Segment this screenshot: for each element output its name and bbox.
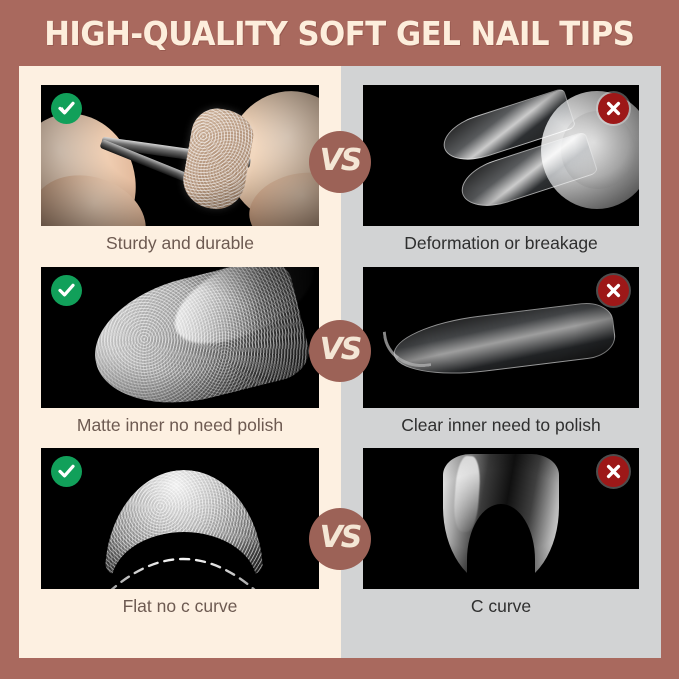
pro-photo-3 (41, 448, 319, 589)
pro-caption-2: Matte inner no need polish (77, 417, 283, 435)
vs-badge-1: VS (309, 131, 371, 193)
pro-cell-3: Flat no c curve (19, 434, 341, 616)
check-badge (51, 93, 82, 124)
pro-cell-2: Matte inner no need polish (19, 253, 341, 435)
vs-badge-3: VS (309, 508, 371, 570)
poster-title-bar: HIGH-QUALITY SOFT GEL NAIL TIPS (0, 0, 679, 66)
con-cell-3: C curve (341, 434, 661, 616)
con-caption-3: C curve (471, 598, 531, 616)
dashed-arc-guide (103, 518, 263, 589)
check-badge (51, 275, 82, 306)
con-photo-3 (363, 448, 639, 589)
con-column: Deformation or breakage Clea (341, 66, 661, 658)
close-icon (605, 463, 622, 480)
vs-badge-label: VS (320, 146, 361, 176)
pro-caption-3: Flat no c curve (123, 598, 238, 616)
con-cell-1: Deformation or breakage (341, 66, 661, 253)
check-badge (51, 456, 82, 487)
cross-badge (598, 93, 629, 124)
vs-badge-2: VS (309, 320, 371, 382)
check-icon (57, 99, 76, 118)
vs-badge-label: VS (320, 335, 361, 365)
con-photo-1 (363, 85, 639, 226)
pro-photo-2 (41, 267, 319, 408)
pro-photo-1-art (41, 85, 319, 226)
con-cell-2: Clear inner need to polish (341, 253, 661, 435)
check-icon (57, 462, 76, 481)
page-title: HIGH-QUALITY SOFT GEL NAIL TIPS (44, 14, 634, 53)
check-icon (57, 281, 76, 300)
pro-column: Sturdy and durable Matte inn (19, 66, 341, 658)
con-caption-2: Clear inner need to polish (401, 417, 600, 435)
con-caption-1: Deformation or breakage (404, 235, 598, 253)
pro-photo-2-art (41, 267, 319, 408)
tip-hook-shape (383, 326, 432, 371)
pro-caption-1: Sturdy and durable (106, 235, 254, 253)
con-photo-2 (363, 267, 639, 408)
close-icon (605, 100, 622, 117)
pro-photo-3-art (41, 448, 319, 589)
cross-badge (598, 275, 629, 306)
pro-cell-1: Sturdy and durable (19, 66, 341, 253)
poster-root: HIGH-QUALITY SOFT GEL NAIL TIPS (0, 0, 679, 679)
cross-badge (598, 456, 629, 487)
vs-badge-label: VS (320, 523, 361, 553)
close-icon (605, 282, 622, 299)
pro-photo-1 (41, 85, 319, 226)
